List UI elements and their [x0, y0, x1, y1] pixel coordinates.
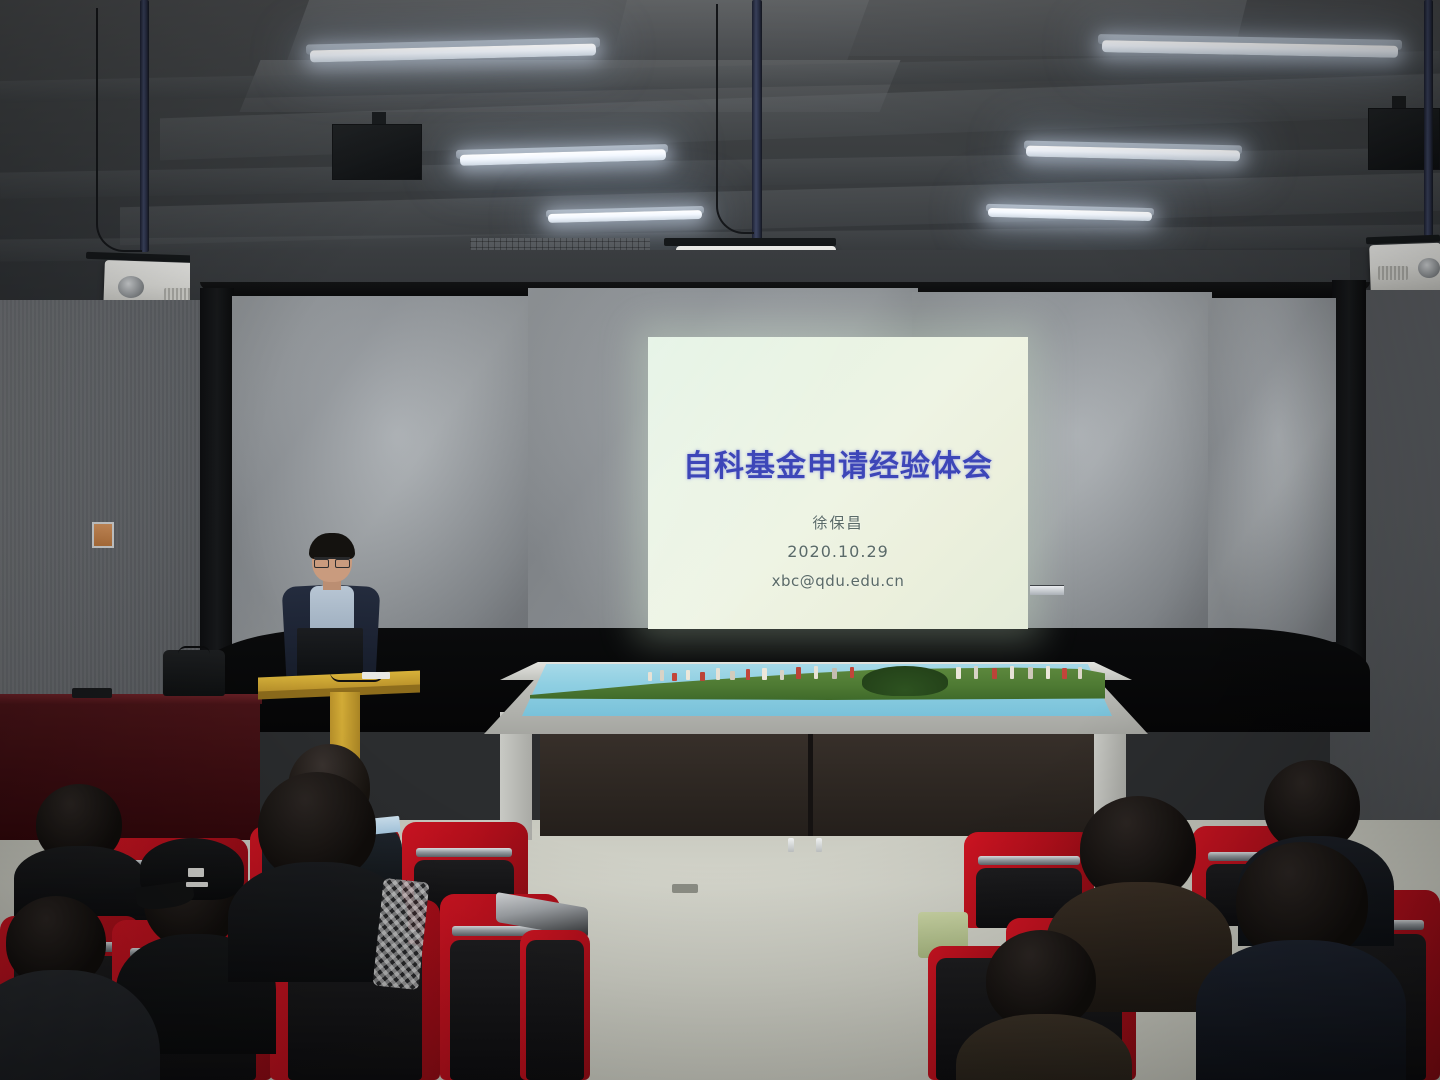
- laptop-bag: [163, 650, 225, 696]
- model-table-seam: [808, 718, 813, 836]
- floor-drain: [672, 884, 698, 893]
- slide-email: xbc@qdu.edu.cn: [648, 572, 1028, 590]
- cap-logo-text: [186, 882, 208, 887]
- podium-papers: [362, 672, 390, 679]
- model-building: [686, 670, 690, 680]
- model-building: [1028, 667, 1033, 679]
- model-table-base: [540, 718, 1100, 836]
- model-building: [716, 668, 720, 680]
- model-building: [814, 666, 818, 679]
- model-building: [1062, 668, 1067, 679]
- model-building: [730, 671, 735, 680]
- model-building: [796, 667, 801, 679]
- projector-vent: [1378, 266, 1408, 280]
- model-building: [956, 667, 961, 679]
- screen-panel: [232, 296, 532, 644]
- screen-post-left: [200, 288, 234, 688]
- screen-panel: [1208, 298, 1336, 642]
- seat-cushion: [526, 940, 584, 1080]
- water-bottle: [816, 838, 822, 852]
- projector-lens: [118, 276, 144, 298]
- person-shoulders: [1196, 940, 1406, 1080]
- model-building: [992, 668, 997, 679]
- model-building: [746, 669, 750, 680]
- projector-cable: [96, 8, 142, 252]
- slide-date: 2020.10.29: [648, 542, 1028, 561]
- model-building: [1010, 666, 1014, 679]
- model-building: [762, 668, 767, 680]
- model-hill: [862, 666, 948, 696]
- lecture-hall-photo: 自科基金申请经验体会 徐保昌 2020.10.29 xbc@qdu.edu.cn: [0, 0, 1440, 1080]
- model-building: [700, 672, 705, 681]
- model-building: [648, 672, 652, 681]
- seat-trim: [978, 856, 1080, 865]
- model-building: [660, 670, 664, 681]
- model-building: [832, 668, 837, 679]
- model-building: [1078, 667, 1082, 679]
- seat-trim: [416, 848, 512, 857]
- glasses-icon: [314, 557, 350, 564]
- slide-author: 徐保昌: [648, 512, 1028, 533]
- bag-strap: [178, 646, 210, 654]
- ceiling-speaker-left: [332, 124, 422, 180]
- cap-logo: [188, 868, 204, 877]
- projector-pole: [1424, 0, 1433, 236]
- podium-laptop: [297, 628, 363, 678]
- slide-title: 自科基金申请经验体会: [648, 441, 1028, 485]
- counter-object: [72, 688, 112, 698]
- seat[interactable]: [520, 930, 590, 1080]
- model-building: [672, 673, 677, 681]
- projected-slide: 自科基金申请经验体会 徐保昌 2020.10.29 xbc@qdu.edu.cn: [648, 337, 1028, 629]
- model-building: [974, 666, 978, 679]
- water-bottle: [788, 838, 794, 852]
- model-building: [1046, 666, 1050, 679]
- screen-label-sticker: [1030, 585, 1064, 595]
- presenter-hair: [309, 533, 355, 559]
- wall-outlet-plaque: [92, 522, 114, 548]
- projector-mount-arm: [664, 238, 836, 246]
- projector-cable: [716, 4, 754, 234]
- model-building: [780, 670, 784, 680]
- projector-lens: [1418, 258, 1440, 278]
- screen-post-right: [1332, 280, 1366, 690]
- model-building: [850, 667, 854, 678]
